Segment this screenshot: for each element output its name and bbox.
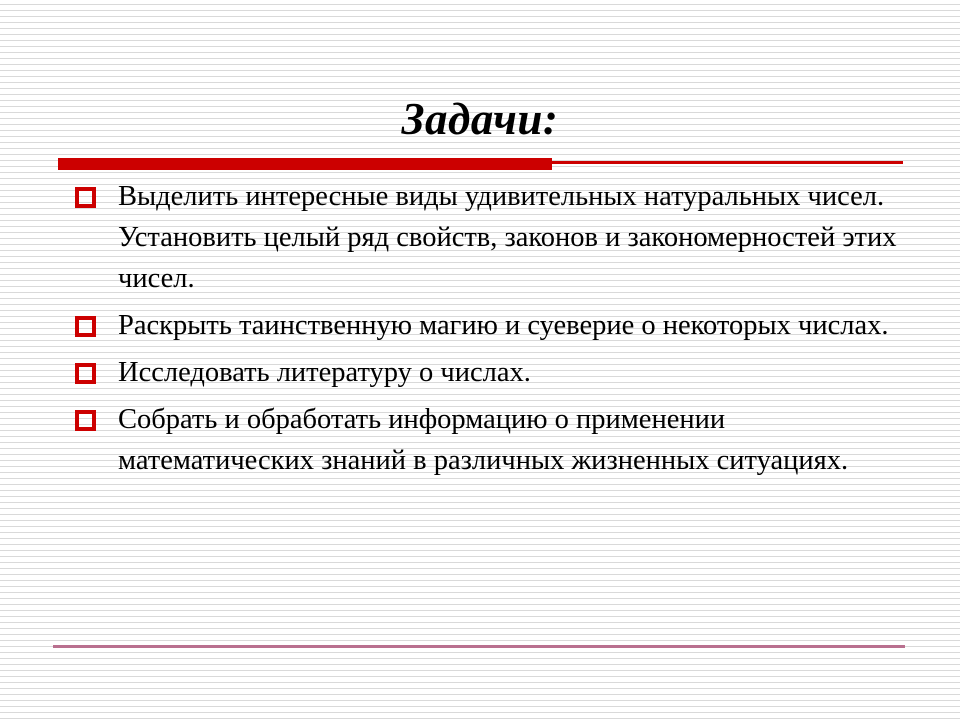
objectives-list: Выделить интересные виды удивительных на… <box>70 176 920 481</box>
square-bullet-icon <box>75 410 96 431</box>
list-item: Выделить интересные виды удивительных на… <box>70 176 920 299</box>
list-item-text: Собрать и обработать информацию о примен… <box>118 399 920 481</box>
list-item: Исследовать литературу о числах. <box>70 352 920 393</box>
list-item: Раскрыть таинственную магию и суеверие о… <box>70 305 920 346</box>
slide-canvas: Задачи: Выделить интересные виды удивите… <box>0 0 960 720</box>
title-divider <box>58 158 903 170</box>
title-divider-thick-segment <box>58 158 552 170</box>
list-item-text: Выделить интересные виды удивительных на… <box>118 176 920 299</box>
square-bullet-icon <box>75 316 96 337</box>
square-bullet-icon <box>75 363 96 384</box>
footer-divider <box>53 645 905 648</box>
square-bullet-icon <box>75 187 96 208</box>
list-item-text: Исследовать литературу о числах. <box>118 352 920 393</box>
page-title: Задачи: <box>402 96 559 143</box>
title-divider-thin-segment <box>552 161 903 164</box>
title-block: Задачи: <box>0 96 960 143</box>
list-item: Собрать и обработать информацию о примен… <box>70 399 920 481</box>
list-item-text: Раскрыть таинственную магию и суеверие о… <box>118 305 920 346</box>
